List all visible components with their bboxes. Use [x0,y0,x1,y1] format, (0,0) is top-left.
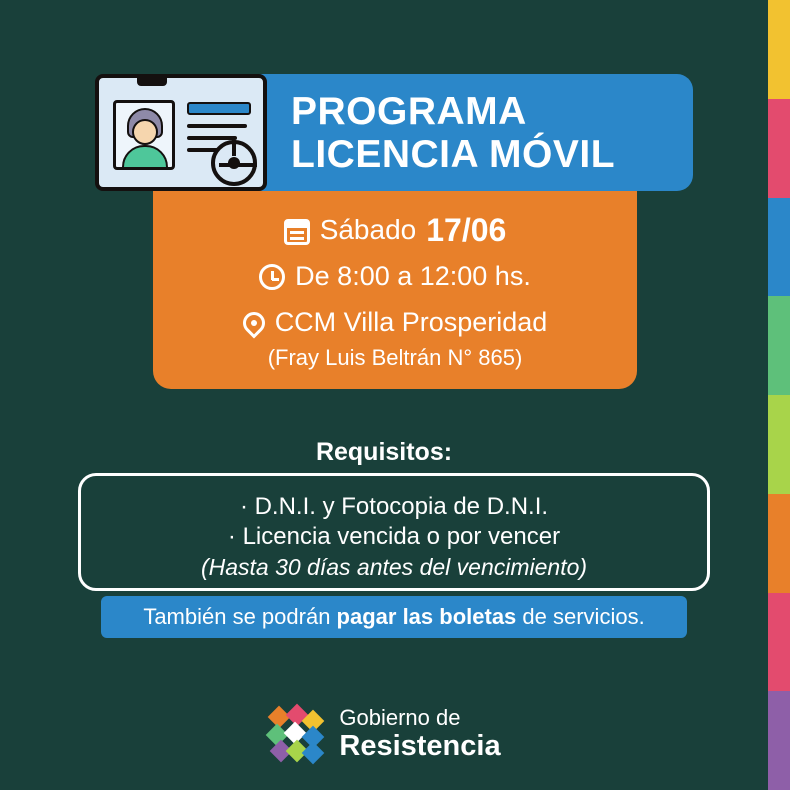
event-date-value: 17/06 [426,213,506,247]
strip-band-2 [768,99,790,198]
program-title-line2: LICENCIA MÓVIL [291,133,615,176]
logo-wordmark: Gobierno de Resistencia [339,707,500,761]
payment-note-suffix: de servicios. [516,604,644,630]
portrait-body-shape [122,145,168,170]
logo-mark-icon [267,705,325,763]
strip-band-6 [768,494,790,593]
requirements-note: (Hasta 30 días antes del vencimiento) [81,552,707,582]
payment-note-bold: pagar las boletas [337,604,517,630]
event-date-row: Sábado 17/06 [153,213,637,247]
government-logo: Gobierno de Resistencia [0,705,768,763]
strip-band-8 [768,691,790,790]
program-title-line1: PROGRAMA [291,90,615,133]
event-time-row: De 8:00 a 12:00 hs. [153,259,637,293]
logo-text-line1: Gobierno de [339,707,500,729]
requirement-item-1: · D.N.I. y Fotocopia de D.N.I. [81,492,707,522]
requirements-box: · D.N.I. y Fotocopia de D.N.I. · Licenci… [78,473,710,591]
card-field-bar-2 [187,124,247,128]
portrait-photo-icon [113,100,175,170]
event-time-value: De 8:00 a 12:00 hs. [295,259,531,293]
poster-canvas: PROGRAMA LICENCIA MÓVIL Sábado 17/06 De … [0,0,790,790]
logo-text-line2: Resistencia [339,732,500,761]
steering-wheel-icon [211,140,257,186]
event-date-label: Sábado [320,213,417,247]
requirements-title: Requisitos: [0,438,768,467]
strip-band-3 [768,198,790,297]
id-card-driver-icon [95,74,267,191]
strip-band-4 [768,296,790,395]
strip-band-7 [768,593,790,692]
calendar-icon [284,219,310,245]
requirements-list: · D.N.I. y Fotocopia de D.N.I. · Licenci… [81,476,707,582]
payment-note-prefix: También se podrán [143,604,336,630]
steering-wheel-spoke [219,163,257,167]
event-place-value: CCM Villa Prosperidad [275,305,548,339]
event-info-card: Sábado 17/06 De 8:00 a 12:00 hs. CCM Vil… [153,191,637,389]
event-address-value: (Fray Luis Beltrán N° 865) [153,345,637,371]
location-pin-icon [238,307,269,338]
payment-note-bar: También se podrán pagar las boletas de s… [101,596,687,638]
side-color-strip [768,0,790,790]
clock-icon [259,264,285,290]
card-field-bar-1 [187,102,251,115]
event-place-row: CCM Villa Prosperidad [153,305,637,339]
card-clip-shape [137,74,167,86]
strip-band-1 [768,0,790,99]
strip-band-5 [768,395,790,494]
portrait-face-shape [132,119,158,145]
logo-square-9 [302,742,325,765]
requirement-item-2: · Licencia vencida o por vencer [81,522,707,552]
program-title: PROGRAMA LICENCIA MÓVIL [291,90,615,176]
